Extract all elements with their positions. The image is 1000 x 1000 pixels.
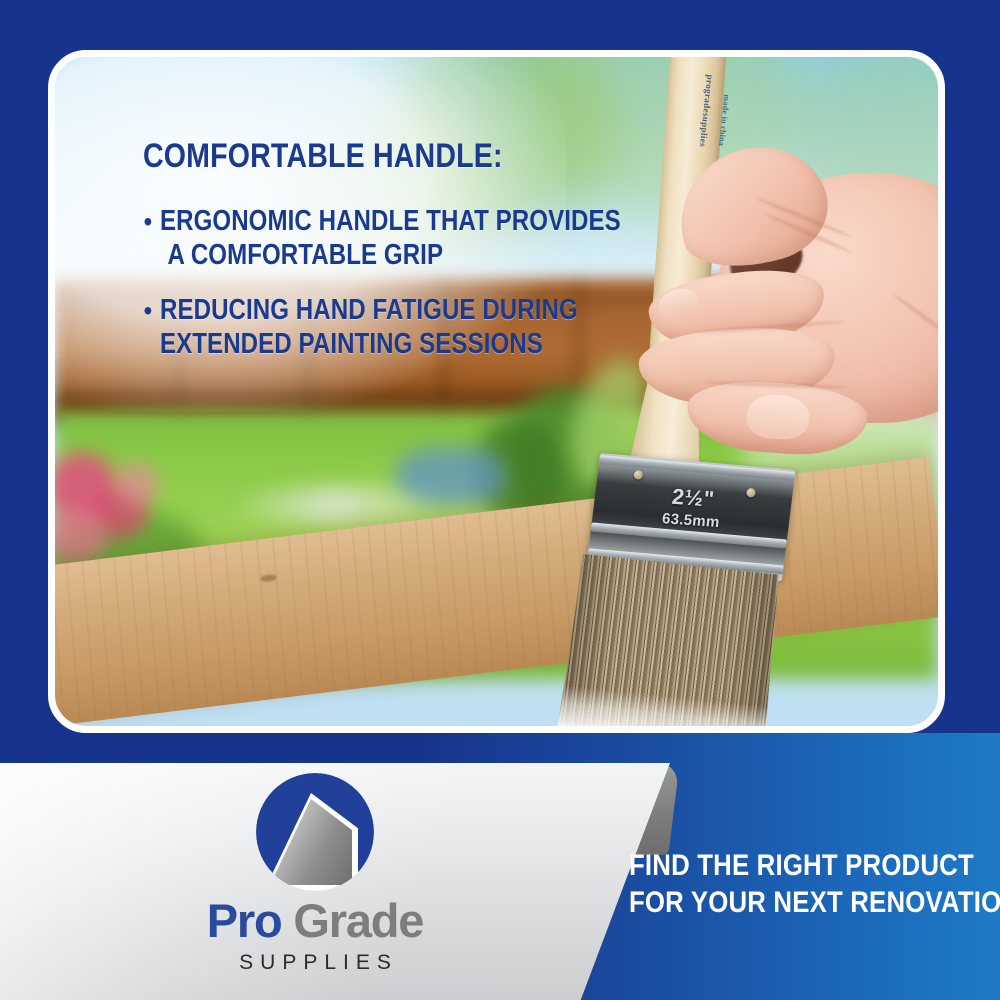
brand-footer-band: Pro Grade SUPPLIES FIND THE RIGHT PRODUC… [0, 733, 1000, 1000]
product-photo-card: progradesupplies made in china 2½" 63.5m… [48, 50, 945, 733]
blurred-stones [225, 487, 445, 523]
pro-grade-logo-icon [256, 773, 374, 891]
bullet-text: REDUCING HAND FATIGUE DURING EXTENDED PA… [160, 294, 578, 361]
photo-scene: progradesupplies made in china 2½" 63.5m… [55, 57, 938, 726]
hand-gripping-brush [655, 147, 938, 517]
list-item: • ERGONOMIC HANDLE THAT PROVIDES A COMFO… [143, 205, 623, 272]
pink-flower [115, 462, 159, 506]
thumbnail [746, 393, 810, 440]
bullet-line-2: EXTENDED PAINTING SESSIONS [160, 328, 578, 362]
bullet-line-1: ERGONOMIC HANDLE THAT PROVIDES [160, 205, 621, 237]
bullet-text: ERGONOMIC HANDLE THAT PROVIDES A COMFORT… [160, 205, 621, 272]
bullet-line-2: A COMFORTABLE GRIP [160, 239, 621, 273]
feature-bullet-list: • ERGONOMIC HANDLE THAT PROVIDES A COMFO… [143, 205, 623, 362]
product-infographic-poster: progradesupplies made in china 2½" 63.5m… [0, 0, 1000, 1000]
bullet-dot-icon: • [143, 297, 152, 325]
bullet-dot-icon: • [143, 208, 152, 236]
brand-wordmark: Pro Grade [150, 897, 480, 944]
brand-subtitle: SUPPLIES [150, 951, 480, 975]
tagline-line-1: FIND THE RIGHT PRODUCT [629, 849, 974, 882]
feature-copy-block: COMFORTABLE HANDLE: • ERGONOMIC HANDLE T… [143, 137, 623, 384]
wordmark-grade: Grade [293, 894, 423, 947]
footer-tagline: FIND THE RIGHT PRODUCT FOR YOUR NEXT REN… [629, 848, 1000, 921]
list-item: • REDUCING HAND FATIGUE DURING EXTENDED … [143, 294, 623, 361]
brand-logo: Pro Grade SUPPLIES [150, 773, 480, 975]
wordmark-pro: Pro [207, 894, 282, 947]
tagline-line-2: FOR YOUR NEXT RENOVATION [629, 885, 1000, 922]
page-title: COMFORTABLE HANDLE: [143, 137, 546, 175]
bullet-line-1: REDUCING HAND FATIGUE DURING [160, 294, 578, 326]
